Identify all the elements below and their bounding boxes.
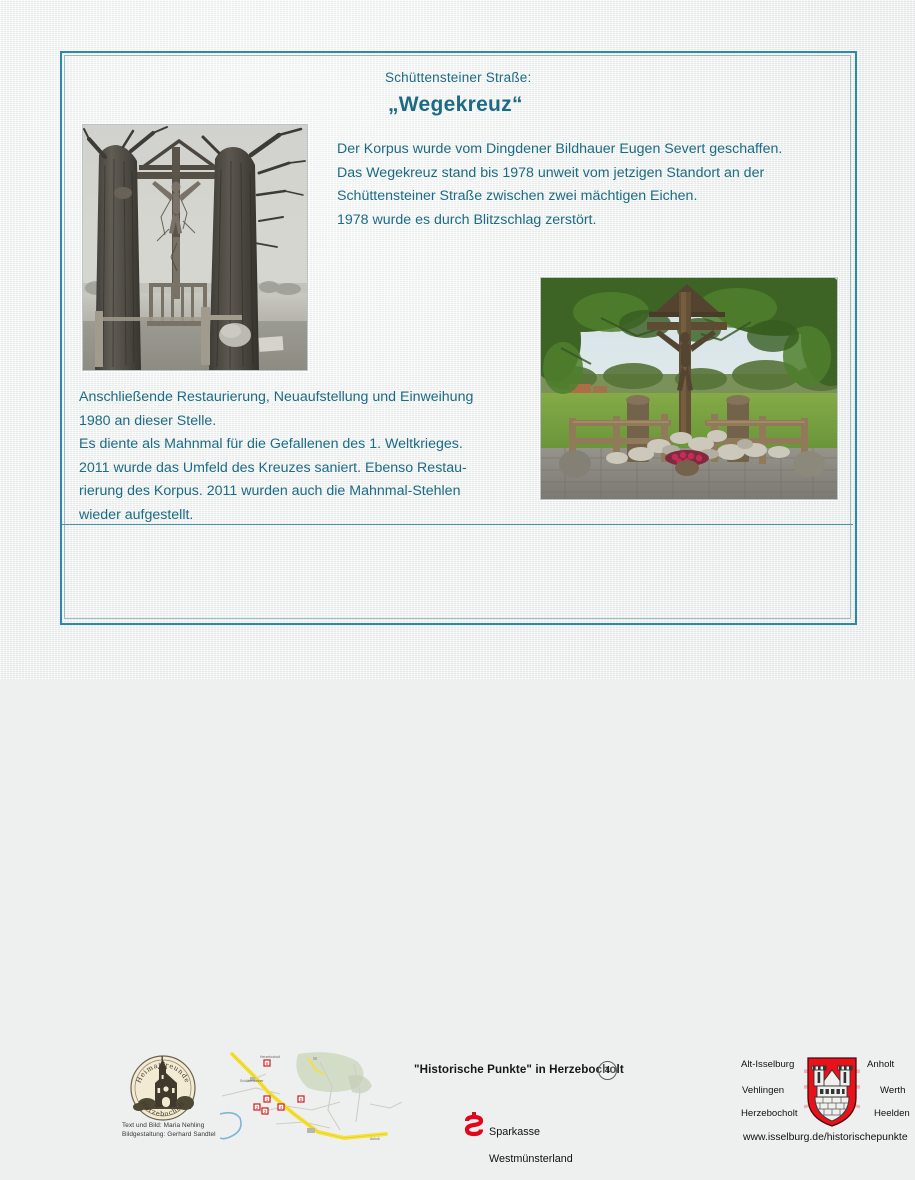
description-paragraph-top: Der Korpus wurde vom Dingdener Bildhauer…: [337, 138, 857, 232]
historic-photo: [82, 124, 308, 371]
sponsor-name: Sparkasse Westmünsterland: [489, 1112, 573, 1180]
place-vehlingen: Vehlingen: [742, 1085, 784, 1096]
page-title: „Wegekreuz“: [388, 93, 523, 117]
location-map[interactable]: 12 34 56 Schüttensteiner Herzebocholt An…: [220, 1052, 406, 1144]
sponsor-line-1: Sparkasse: [489, 1126, 573, 1140]
poster-page: Schüttensteiner Straße: „Wegekreuz“ Der …: [0, 0, 915, 679]
credits: Text und Bild: Maria Nehling Bildgestalt…: [122, 1122, 216, 1139]
point-number-badge: 4: [598, 1061, 617, 1080]
sponsor-logo[interactable]: Sparkasse Westmünsterland: [465, 1111, 595, 1143]
coat-of-arms-icon: [804, 1056, 860, 1128]
location-map-image: 12 34 56 Schüttensteiner Herzebocholt An…: [220, 1052, 406, 1144]
place-werth: Werth: [880, 1085, 905, 1096]
heimatfreunde-seal-icon: Heimatfreunde Herzebocholt: [125, 1055, 209, 1121]
credits-line-2: Bildgestaltung: Gerhard Sandtel: [122, 1131, 216, 1140]
sponsor-line-2: Westmünsterland: [489, 1153, 573, 1167]
historic-photo-image: [83, 125, 307, 370]
description-paragraph-bottom: Anschließende Restaurierung, Neuaufstell…: [79, 386, 549, 527]
restored-photo-image: [541, 278, 837, 499]
sparkasse-s-icon: [465, 1112, 483, 1138]
svg-text:Schüttensteiner: Schüttensteiner: [240, 1079, 264, 1083]
heimatfreunde-seal: Heimatfreunde Herzebocholt: [125, 1055, 209, 1121]
place-alt-isselburg: Alt-Isselburg: [741, 1059, 794, 1070]
svg-text:Herzebocholt: Herzebocholt: [260, 1055, 280, 1059]
isselburg-coat-of-arms: [804, 1056, 860, 1128]
poster-series-caption: "Historische Punkte" in Herzebocholt: [414, 1063, 624, 1076]
website-url[interactable]: www.isselburg.de/historischepunkte: [743, 1132, 908, 1143]
restored-photo: [540, 277, 838, 500]
place-heelden: Heelden: [874, 1108, 910, 1119]
credits-line-1: Text und Bild: Maria Nehling: [122, 1122, 216, 1131]
place-anholt: Anholt: [867, 1059, 894, 1070]
place-herzebocholt: Herzebocholt: [741, 1108, 798, 1119]
street-subtitle: Schüttensteiner Straße:: [385, 70, 531, 85]
svg-text:Anholt: Anholt: [370, 1137, 380, 1141]
footer: Heimatfreunde Herzebocholt Text und Bild…: [62, 525, 853, 619]
